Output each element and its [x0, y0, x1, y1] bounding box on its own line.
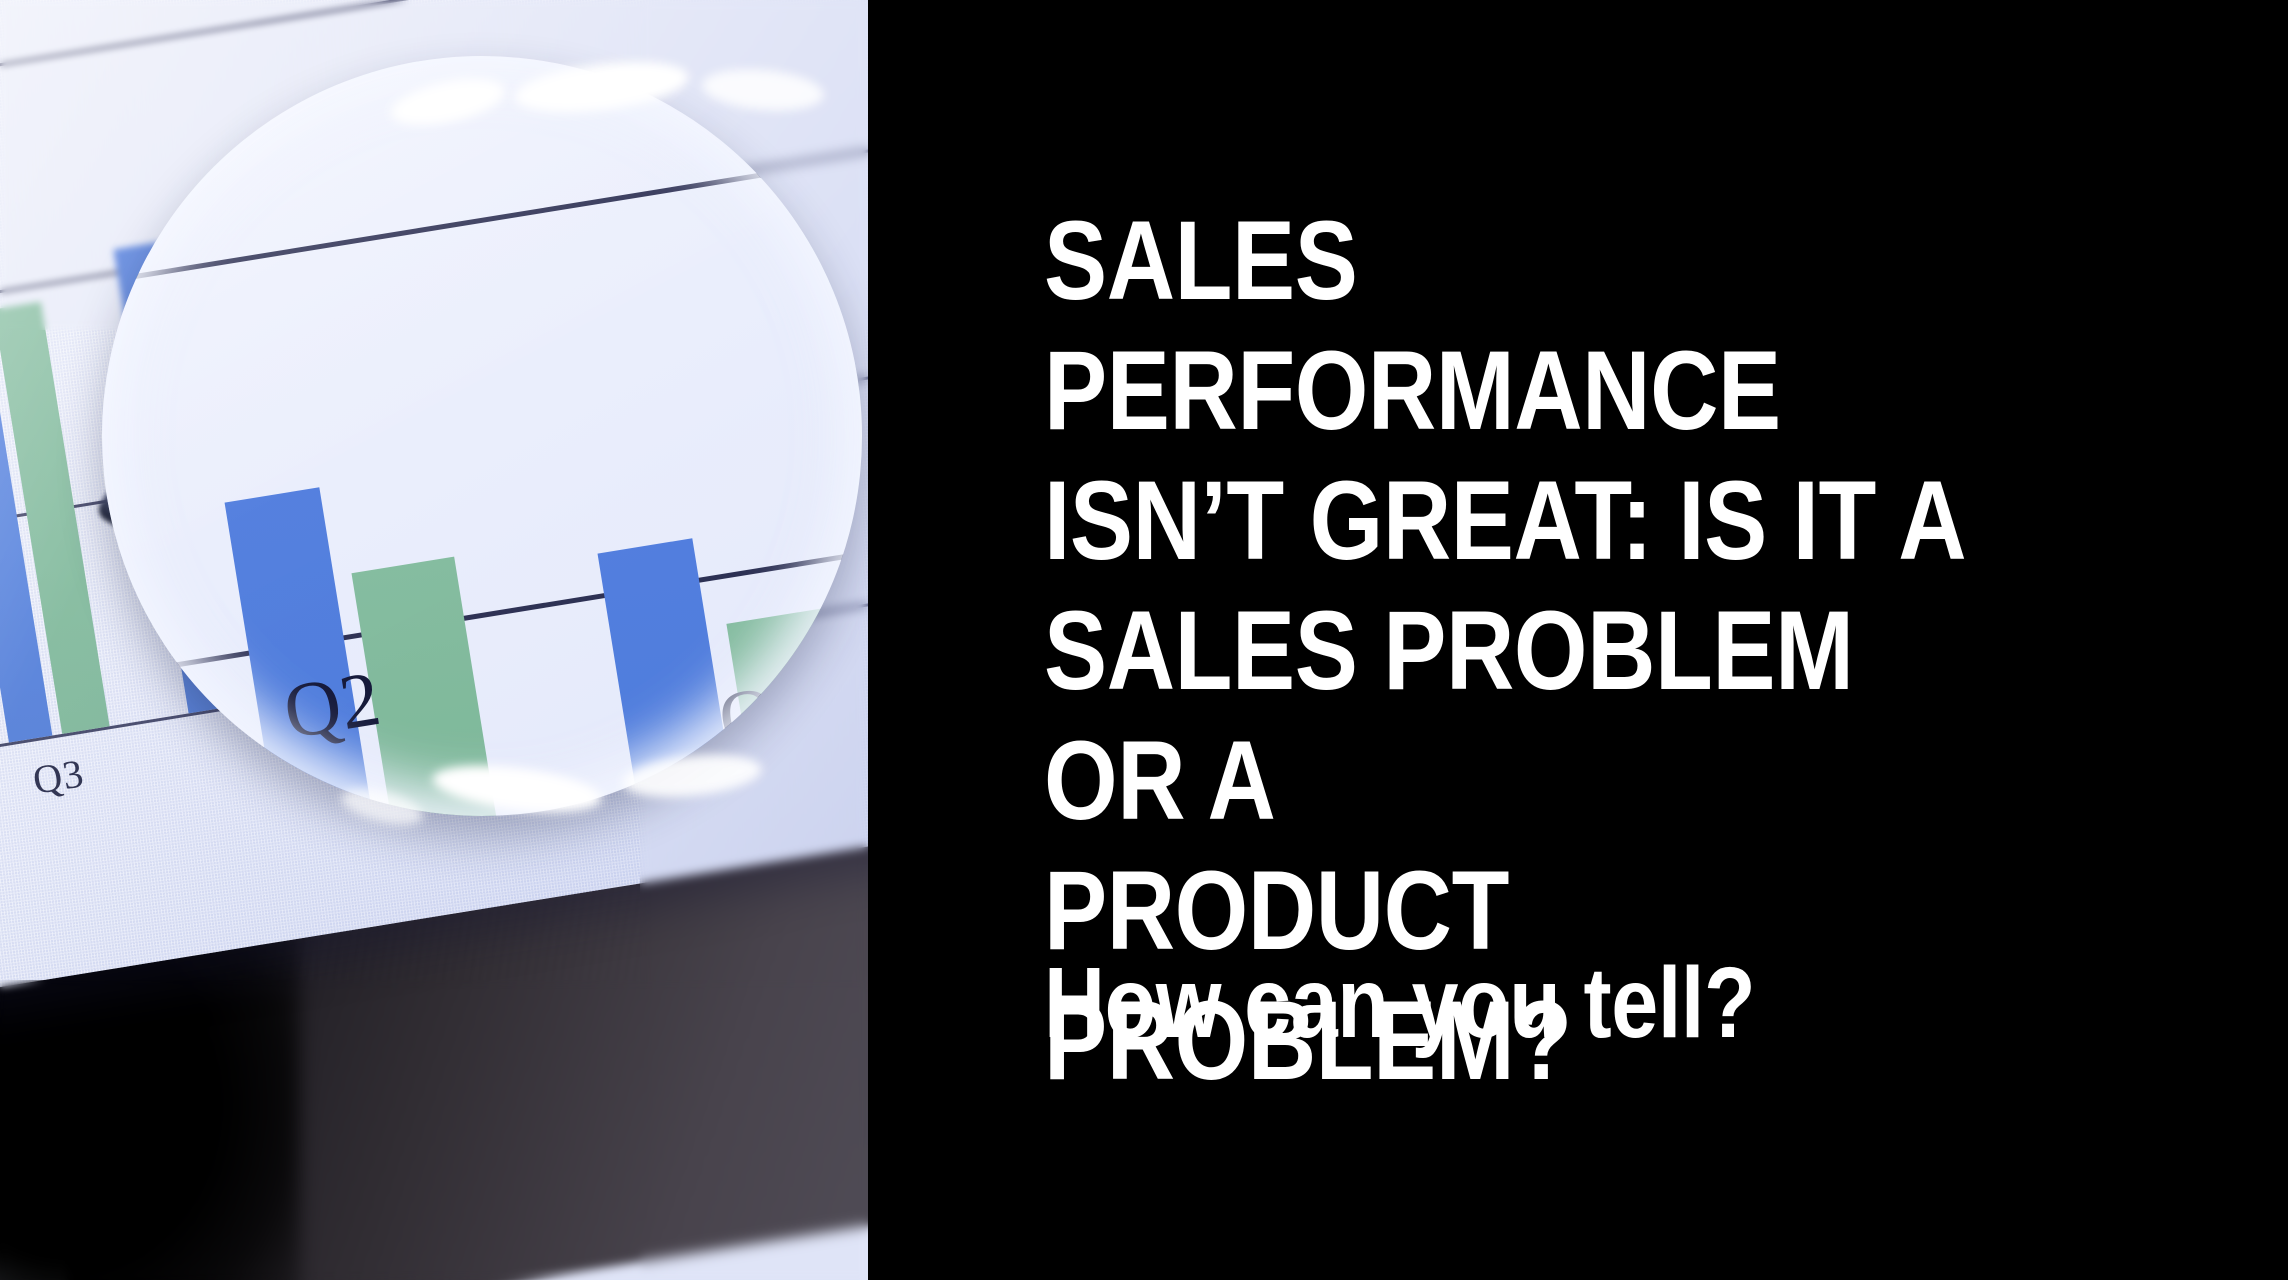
- page-subtitle: How can you tell?: [1044, 948, 1755, 1058]
- slide: Q3 Q2 Q3 Q2 Q3: [0, 0, 2288, 1280]
- text-panel: SALES PERFORMANCEISN’T GREAT: IS IT ASAL…: [868, 0, 2288, 1280]
- magnifying-glass-icon: Q2 Q3: [102, 56, 862, 816]
- magnifier-rim: [102, 56, 862, 816]
- headline-line-0: SALES PERFORMANCE: [1044, 196, 2016, 456]
- photo-panel: Q3 Q2 Q3 Q2 Q3: [0, 0, 868, 1280]
- headline-line-1: ISN’T GREAT: IS IT A: [1044, 456, 2016, 586]
- headline-line-2: SALES PROBLEM OR A: [1044, 586, 2016, 846]
